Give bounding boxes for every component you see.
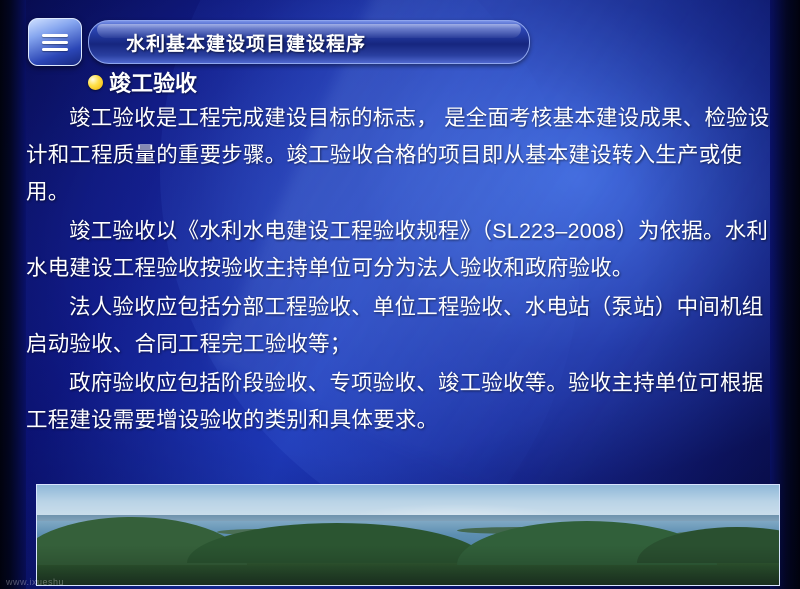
body-paragraph: 竣工验收是工程完成建设目标的标志， 是全面考核基本建设成果、检验设计和工程质量的… xyxy=(26,100,778,211)
presentation-slide: 水利基本建设项目建设程序 竣工验收 竣工验收是工程完成建设目标的标志， 是全面考… xyxy=(0,0,800,589)
reservoir-landscape-photo xyxy=(36,484,780,586)
slide-title-bar: 水利基本建设项目建设程序 xyxy=(28,20,528,64)
hamburger-menu-icon xyxy=(28,18,82,66)
body-paragraph: 竣工验收以《水利水电建设工程验收规程》（SL223–2008）为依据。水利水电建… xyxy=(26,213,778,287)
watermark-text: www.ixueshu xyxy=(6,577,64,587)
slide-title: 水利基本建设项目建设程序 xyxy=(126,29,366,56)
body-paragraph: 法人验收应包括分部工程验收、单位工程验收、水电站（泵站）中间机组启动验收、合同工… xyxy=(26,289,778,363)
section-heading-label: 竣工验收 xyxy=(109,66,197,98)
section-heading: 竣工验收 xyxy=(88,66,197,98)
body-paragraph: 政府验收应包括阶段验收、专项验收、竣工验收等。验收主持单位可根据工程建设需要增设… xyxy=(26,365,778,439)
photo-shading xyxy=(37,485,779,585)
slide-body: 竣工验收是工程完成建设目标的标志， 是全面考核基本建设成果、检验设计和工程质量的… xyxy=(26,100,778,441)
yellow-dot-icon xyxy=(88,75,103,90)
